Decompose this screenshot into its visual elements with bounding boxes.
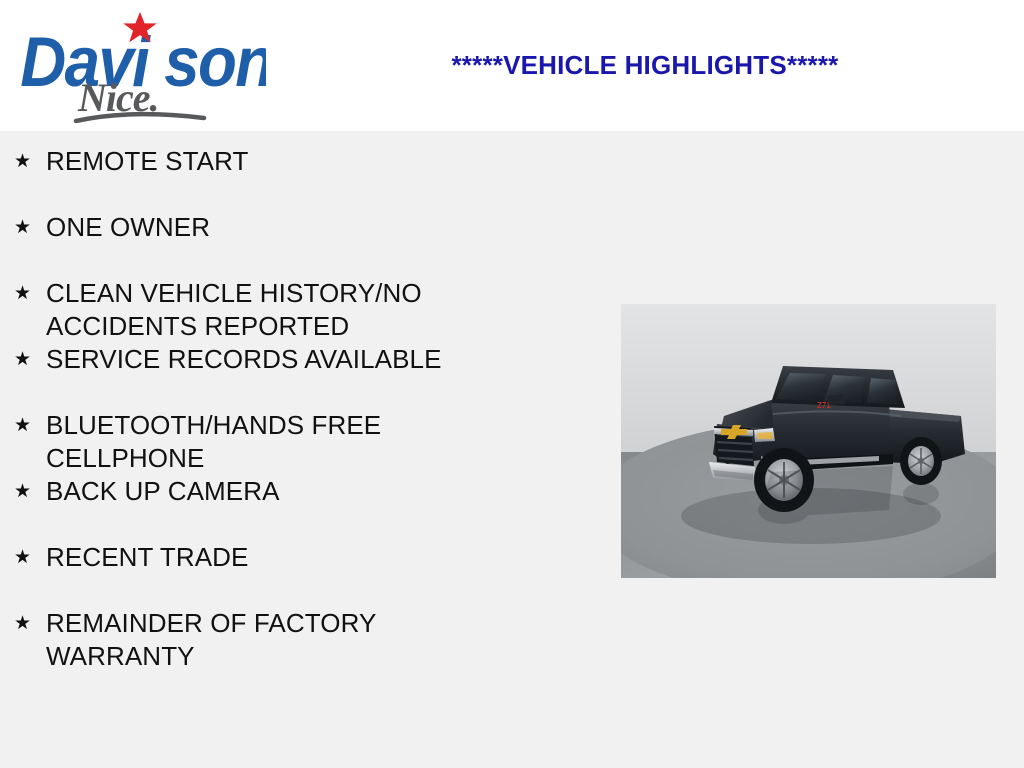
vehicle-photo[interactable]: Z71 [621, 304, 996, 578]
star-bullet-icon: ★ [14, 593, 46, 639]
page-title: *****VEHICLE HIGHLIGHTS***** [300, 50, 990, 81]
dealer-logo[interactable]: Davi son Nice. [16, 8, 266, 123]
star-bullet-icon: ★ [14, 329, 46, 375]
list-item: ★ REMOTE START [0, 131, 560, 197]
vehicle-highlights-page: Davi son Nice. *****VEHICLE HIGHLIGHTS**… [0, 0, 1024, 768]
list-item-label: RECENT TRADE [46, 527, 560, 574]
list-item: ★ ONE OWNER [0, 197, 560, 263]
list-item: ★ BLUETOOTH/HANDS FREE CELLPHONE [0, 395, 560, 461]
list-item-label: REMAINDER OF FACTORY WARRANTY [46, 593, 560, 673]
list-item-label: SERVICE RECORDS AVAILABLE [46, 329, 560, 376]
list-item: ★ RECENT TRADE [0, 527, 560, 593]
star-bullet-icon: ★ [14, 461, 46, 507]
list-item: ★ BACK UP CAMERA [0, 461, 560, 527]
list-item: ★ CLEAN VEHICLE HISTORY/NO ACCIDENTS REP… [0, 263, 560, 329]
vehicle-highlights-list: ★ REMOTE START ★ ONE OWNER ★ CLEAN VEHIC… [0, 131, 560, 659]
list-item: ★ REMAINDER OF FACTORY WARRANTY [0, 593, 560, 659]
star-bullet-icon: ★ [14, 263, 46, 309]
star-bullet-icon: ★ [14, 197, 46, 243]
list-item-label: REMOTE START [46, 131, 560, 178]
star-bullet-icon: ★ [14, 527, 46, 573]
star-bullet-icon: ★ [14, 131, 46, 177]
list-item-label: ONE OWNER [46, 197, 560, 244]
list-item-label: BACK UP CAMERA [46, 461, 560, 508]
rear-wheel [900, 437, 942, 485]
page-header: Davi son Nice. *****VEHICLE HIGHLIGHTS**… [0, 0, 1024, 131]
list-item: ★ SERVICE RECORDS AVAILABLE [0, 329, 560, 395]
star-bullet-icon: ★ [14, 395, 46, 441]
